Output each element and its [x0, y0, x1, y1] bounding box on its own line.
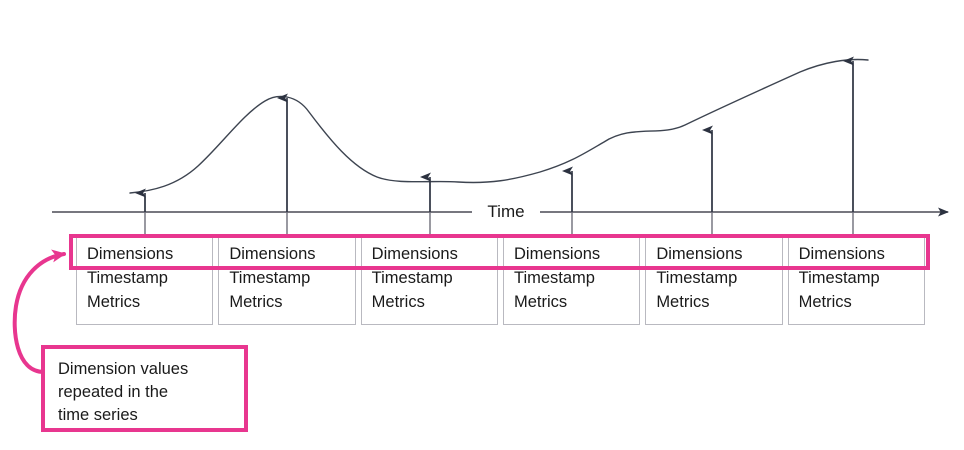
- record-timestamp-label: Timestamp: [229, 266, 354, 290]
- record-dimensions-label: Dimensions: [229, 242, 354, 266]
- callout-line-2: repeated in the: [58, 381, 244, 404]
- record-box-2[interactable]: Dimensions Timestamp Metrics: [218, 237, 355, 325]
- record-box-3[interactable]: Dimensions Timestamp Metrics: [361, 237, 498, 325]
- record-row: Dimensions Timestamp Metrics Dimensions …: [76, 237, 925, 325]
- callout-line-3: time series: [58, 404, 244, 427]
- callout-note: Dimension values repeated in the time se…: [41, 345, 248, 432]
- record-timestamp-label: Timestamp: [656, 266, 781, 290]
- record-metrics-label: Metrics: [656, 290, 781, 314]
- record-dimensions-label: Dimensions: [514, 242, 639, 266]
- record-box-4[interactable]: Dimensions Timestamp Metrics: [503, 237, 640, 325]
- record-dimensions-label: Dimensions: [656, 242, 781, 266]
- time-series-curve: [130, 60, 868, 194]
- record-metrics-label: Metrics: [372, 290, 497, 314]
- record-metrics-label: Metrics: [799, 290, 924, 314]
- record-timestamp-label: Timestamp: [87, 266, 212, 290]
- record-metrics-label: Metrics: [87, 290, 212, 314]
- record-timestamp-label: Timestamp: [514, 266, 639, 290]
- time-axis-label: Time: [474, 201, 538, 222]
- record-dimensions-label: Dimensions: [799, 242, 924, 266]
- callout-line-1: Dimension values: [58, 358, 244, 381]
- diagram-canvas: Time Dimensions Timestamp Metrics Dimens…: [0, 0, 964, 450]
- record-box-5[interactable]: Dimensions Timestamp Metrics: [645, 237, 782, 325]
- record-timestamp-label: Timestamp: [372, 266, 497, 290]
- record-timestamp-label: Timestamp: [799, 266, 924, 290]
- record-metrics-label: Metrics: [514, 290, 639, 314]
- record-dimensions-label: Dimensions: [87, 242, 212, 266]
- record-metrics-label: Metrics: [229, 290, 354, 314]
- record-box-6[interactable]: Dimensions Timestamp Metrics: [788, 237, 925, 325]
- record-dimensions-label: Dimensions: [372, 242, 497, 266]
- record-box-1[interactable]: Dimensions Timestamp Metrics: [76, 237, 213, 325]
